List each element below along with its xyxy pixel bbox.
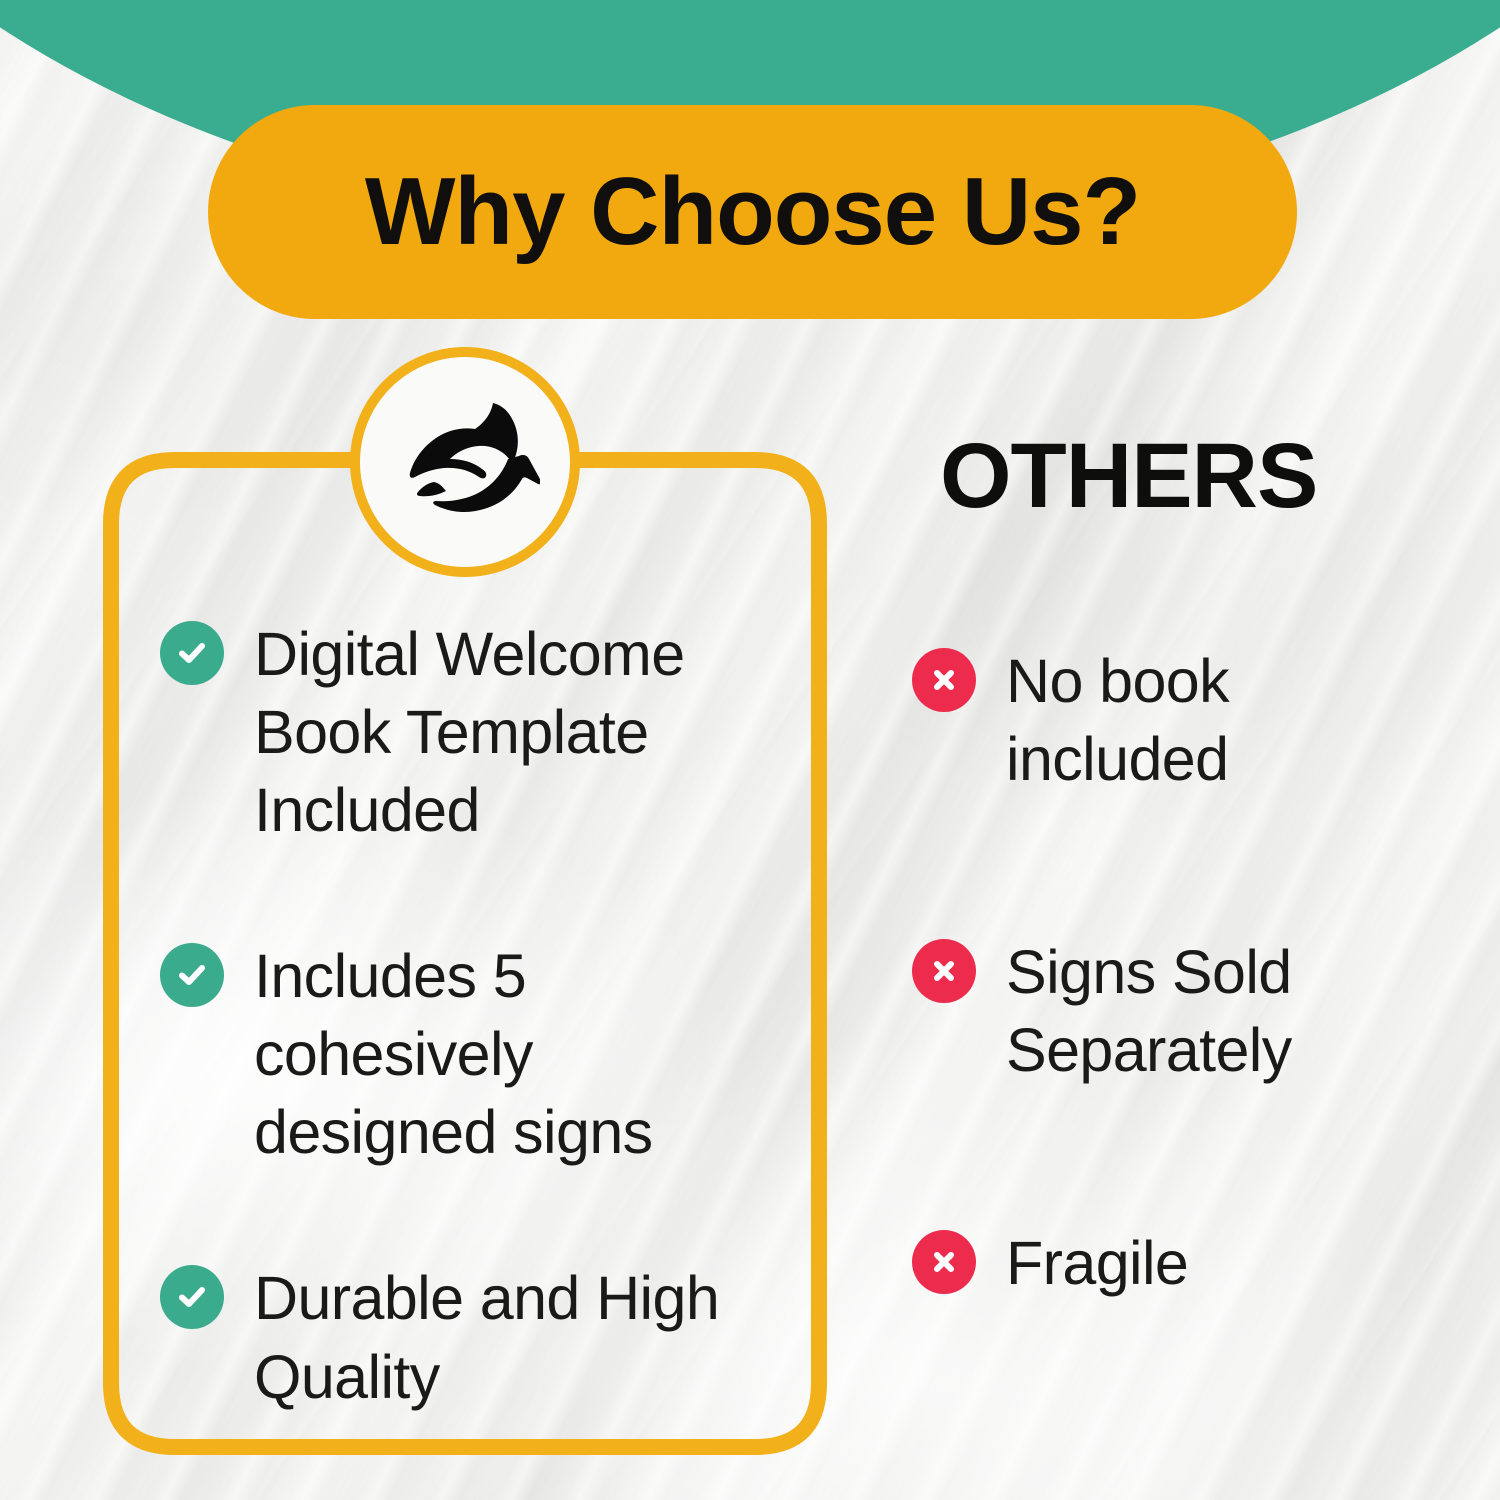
others-heading: OTHERS [940, 430, 1412, 522]
infographic-canvas: Why Choose Us? Digital Welcome Book Temp [0, 0, 1500, 1500]
list-item-label: Durable and High Quality [254, 1259, 774, 1415]
x-circle-icon [912, 939, 976, 1003]
list-item: Signs Sold Separately [912, 933, 1412, 1089]
list-item: No book included [912, 642, 1412, 798]
others-feature-list: OTHERS No book included Signs Sold Separ… [912, 430, 1412, 1302]
check-circle-icon [160, 1265, 224, 1329]
list-item-label: Includes 5 cohesively designed signs [254, 937, 774, 1171]
ours-feature-list: Digital Welcome Book Template Included I… [160, 615, 800, 1416]
list-item: Includes 5 cohesively designed signs [160, 937, 800, 1171]
page-title: Why Choose Us? [365, 164, 1140, 260]
x-circle-icon [912, 648, 976, 712]
list-item-label: Digital Welcome Book Template Included [254, 615, 774, 849]
list-item: Digital Welcome Book Template Included [160, 615, 800, 849]
list-item-label: Fragile [1006, 1224, 1188, 1302]
check-circle-icon [160, 943, 224, 1007]
list-item: Fragile [912, 1224, 1412, 1302]
x-circle-icon [912, 1230, 976, 1294]
check-circle-icon [160, 621, 224, 685]
brand-logo-badge [350, 347, 580, 577]
list-item: Durable and High Quality [160, 1259, 800, 1415]
list-item-label: No book included [1006, 642, 1412, 798]
dolphin-icon [390, 397, 540, 527]
list-item-label: Signs Sold Separately [1006, 933, 1412, 1089]
title-banner: Why Choose Us? [208, 105, 1297, 319]
